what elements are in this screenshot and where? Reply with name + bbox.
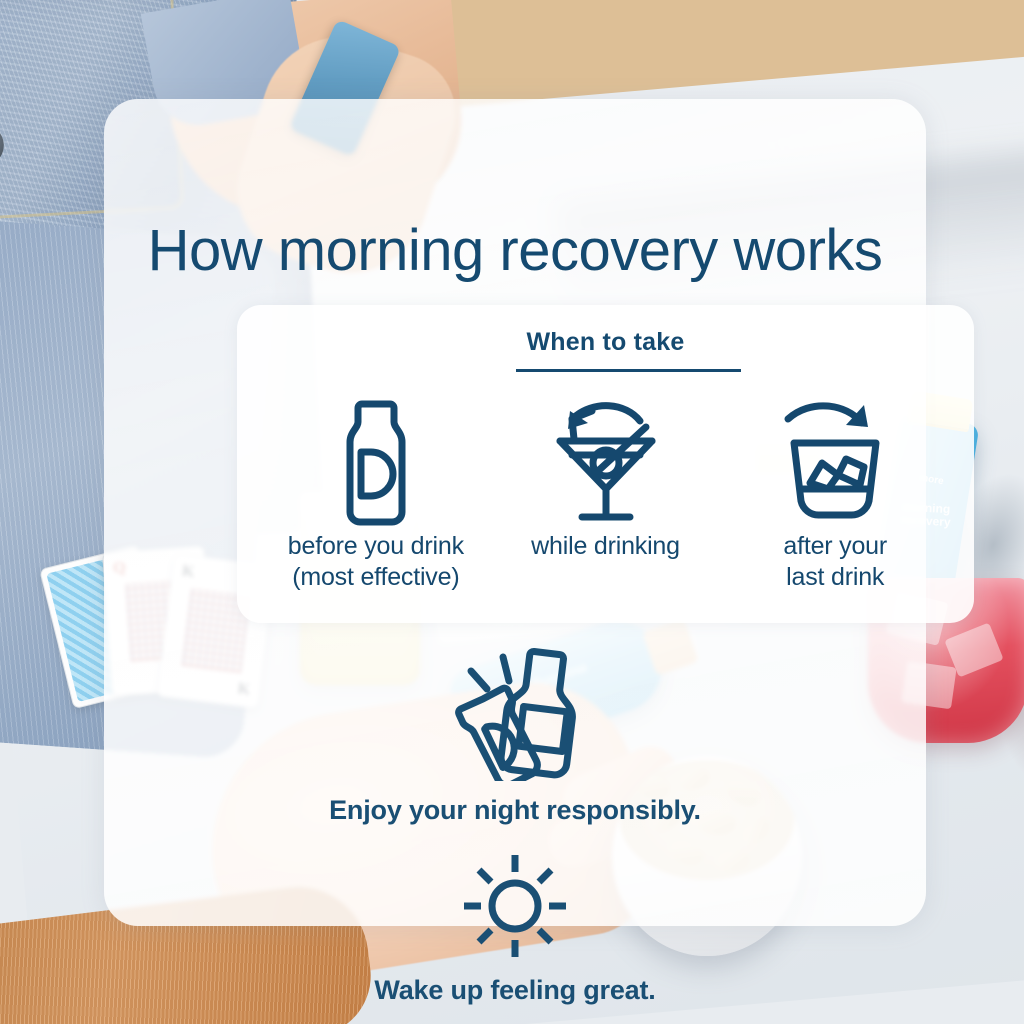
option-label-line2: last drink (720, 562, 950, 593)
martini-glass-arrow-left-icon (491, 391, 721, 531)
page-title: How morning recovery works (104, 217, 926, 284)
option-while-drinking[interactable]: while drinking (491, 391, 721, 593)
step-caption: Enjoy your night responsibly. (104, 795, 926, 826)
option-label-line1: before you drink (261, 531, 491, 562)
option-label-line1: while drinking (491, 531, 721, 562)
section-heading: When to take (237, 328, 974, 357)
product-infographic: Q Q K K morning recovery (0, 0, 1024, 1024)
step-enjoy-night: Enjoy your night responsibly. (104, 631, 926, 826)
option-label-line1: after your (720, 531, 950, 562)
rocks-glass-arrow-right-icon (720, 391, 950, 531)
step-caption: Wake up feeling great. (104, 975, 926, 1006)
option-label-line2: (most effective) (261, 562, 491, 593)
content-overlay-card: How morning recovery works When to take … (104, 99, 926, 926)
section-heading-underline (516, 369, 741, 372)
when-to-take-options: before you drink (most effective) (237, 391, 974, 593)
sun-icon (104, 851, 926, 961)
option-label: after your last drink (720, 531, 950, 593)
option-after-last-drink[interactable]: after your last drink (720, 391, 950, 593)
option-label: while drinking (491, 531, 721, 562)
option-label: before you drink (most effective) (261, 531, 491, 593)
option-before-you-drink[interactable]: before you drink (most effective) (261, 391, 491, 593)
when-to-take-card: When to take before you drink (most effe… (237, 305, 974, 623)
cheers-bottles-icon (104, 631, 926, 781)
bottle-icon (261, 391, 491, 531)
step-wake-up: Wake up feeling great. (104, 851, 926, 1006)
